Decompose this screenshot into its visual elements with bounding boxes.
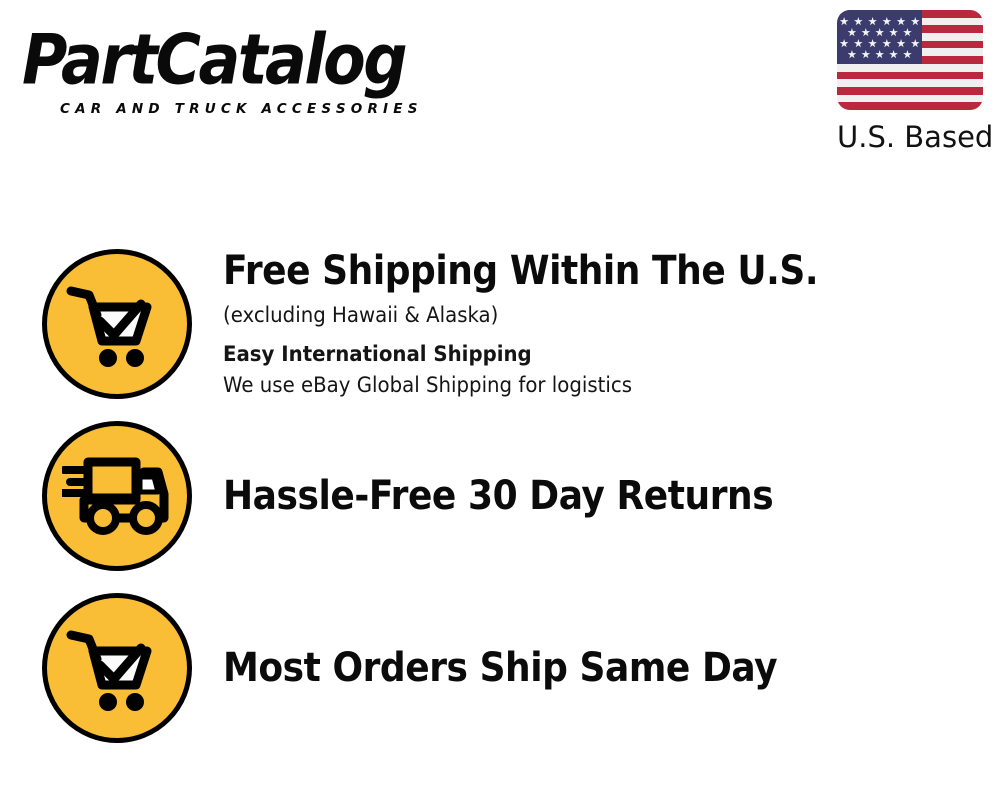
feature-text: Most Orders Ship Same Day [223,645,839,691]
delivery-truck-icon [42,421,192,571]
feature-text: Free Shipping Within The U.S. (excluding… [223,248,884,400]
promo-banner: PartCatalog CAR AND TRUCK ACCESSORIES [0,0,1000,800]
flag-canton [837,10,922,64]
feature-headline: Hassle-Free 30 Day Returns [223,473,773,519]
shopping-cart-check-icon [42,249,192,399]
feature-list: Free Shipping Within The U.S. (excluding… [0,238,1000,754]
us-based-seller-badge: U.S. Based Seller [837,10,983,154]
feature-text: Hassle-Free 30 Day Returns [223,473,834,519]
logo-wordmark: PartCatalog [22,22,492,98]
feature-row: Most Orders Ship Same Day [0,582,1000,754]
feature-row: Free Shipping Within The U.S. (excluding… [0,238,1000,410]
banner-header: PartCatalog CAR AND TRUCK ACCESSORIES [0,0,1000,175]
shopping-cart-check-icon [42,593,192,743]
feature-subline: Easy International Shipping [223,339,845,369]
seller-label: U.S. Based Seller [837,121,983,154]
feature-row: Hassle-Free 30 Day Returns [0,410,1000,582]
feature-headline: Most Orders Ship Same Day [223,645,777,691]
logo-tagline: CAR AND TRUCK ACCESSORIES [60,101,492,117]
feature-headline: Free Shipping Within The U.S. [223,248,818,294]
feature-subline: We use eBay Global Shipping for logistic… [223,370,845,400]
feature-subline: (excluding Hawaii & Alaska) [223,300,845,330]
us-flag-icon [837,10,983,110]
brand-logo: PartCatalog CAR AND TRUCK ACCESSORIES [22,22,492,117]
